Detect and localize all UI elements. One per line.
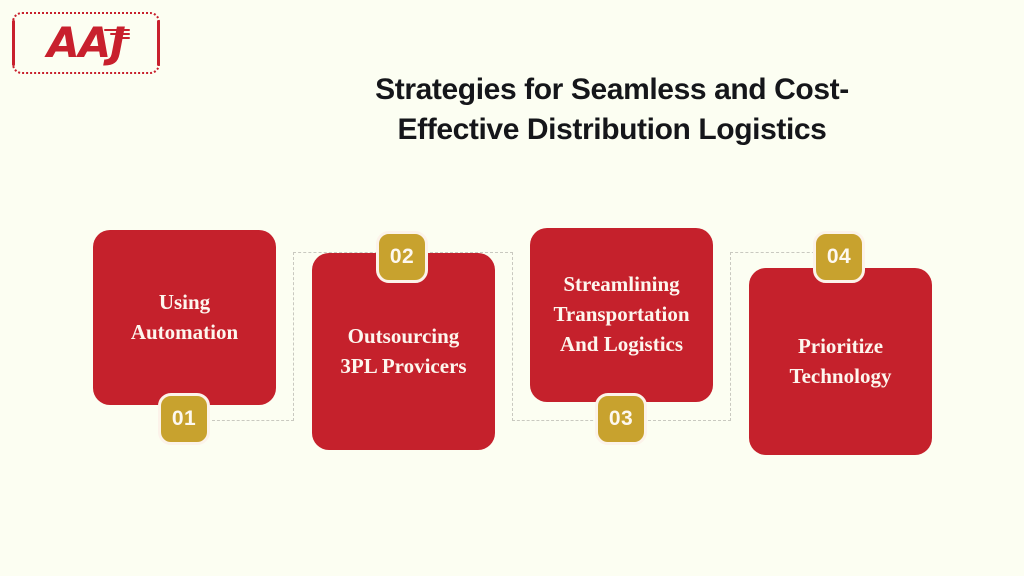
step-badge-03-number: 03 [609, 407, 633, 431]
logo-wordmark: AAJ [12, 22, 160, 64]
step-badge-01-number: 01 [172, 407, 196, 431]
page-title-line-2: Effective Distribution Logistics [398, 113, 827, 146]
step-card-3-label: Streamlining Transportation And Logistic… [541, 270, 701, 359]
connector-4-top [730, 252, 820, 253]
connector-3-bottom-right [648, 420, 731, 421]
aaj-logo: AAJ [12, 12, 160, 74]
connector-1-vertical [293, 252, 294, 421]
step-badge-03: 03 [595, 393, 647, 445]
step-card-2-label: Outsourcing 3PL Provicers [328, 322, 478, 382]
connector-2-vertical [512, 252, 513, 421]
step-card-3[interactable]: Streamlining Transportation And Logistic… [530, 228, 713, 402]
step-card-4[interactable]: Prioritize Technology [749, 268, 932, 455]
step-card-4-label: Prioritize Technology [778, 332, 904, 392]
page-title: Strategies for Seamless and Cost- Effect… [262, 70, 962, 149]
step-badge-02-number: 02 [390, 245, 414, 269]
page-title-line-1: Strategies for Seamless and Cost- [375, 73, 849, 106]
step-card-1-label: Using Automation [119, 288, 250, 348]
step-badge-01: 01 [158, 393, 210, 445]
step-badge-04-number: 04 [827, 245, 851, 269]
step-badge-02: 02 [376, 231, 428, 283]
connector-3-bottom-left [512, 420, 598, 421]
connector-1-bottom [212, 420, 294, 421]
step-badge-04: 04 [813, 231, 865, 283]
connector-3-vertical [730, 252, 731, 421]
step-card-1[interactable]: Using Automation [93, 230, 276, 405]
infographic-canvas: AAJ Strategies for Seamless and Cost- Ef… [0, 0, 1024, 576]
speed-lines-icon [104, 29, 130, 41]
